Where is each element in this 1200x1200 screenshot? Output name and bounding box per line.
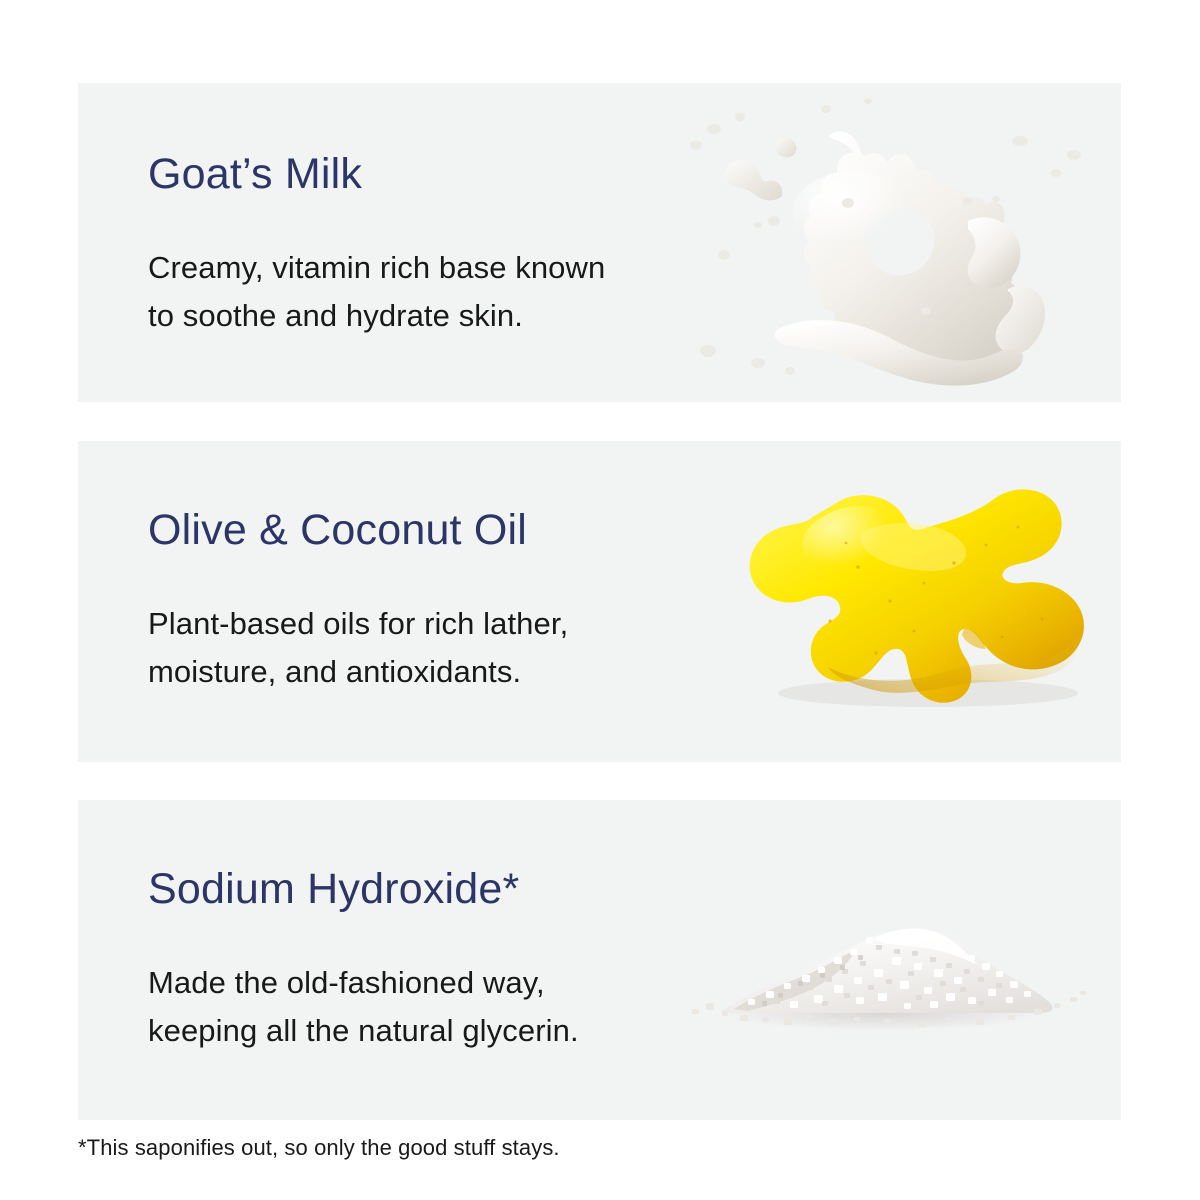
ingredient-card-goats-milk: Goat’s Milk Creamy, vitamin rich base kn… — [78, 83, 1121, 402]
card-title: Sodium Hydroxide* — [148, 868, 579, 911]
oil-blob-icon — [718, 471, 1138, 721]
card-title: Goat’s Milk — [148, 153, 605, 196]
card-text-block: Sodium Hydroxide* Made the old-fashioned… — [148, 868, 579, 1055]
card-title: Olive & Coconut Oil — [148, 509, 568, 552]
ingredient-cards-stage: Goat’s Milk Creamy, vitamin rich base kn… — [0, 0, 1200, 1200]
card-body: Creamy, vitamin rich base known to sooth… — [148, 244, 605, 340]
milk-splash-icon — [678, 93, 1098, 393]
footnote-text: *This saponifies out, so only the good s… — [78, 1135, 560, 1161]
card-body: Made the old-fashioned way, keeping all … — [148, 959, 579, 1055]
card-text-block: Goat’s Milk Creamy, vitamin rich base kn… — [148, 153, 605, 340]
card-text-block: Olive & Coconut Oil Plant-based oils for… — [148, 509, 568, 696]
salt-pile-icon — [678, 905, 1098, 1040]
card-body: Plant-based oils for rich lather, moistu… — [148, 600, 568, 696]
ingredient-card-sodium-hydroxide: Sodium Hydroxide* Made the old-fashioned… — [78, 800, 1121, 1120]
ingredient-card-olive-coconut-oil: Olive & Coconut Oil Plant-based oils for… — [78, 441, 1121, 762]
